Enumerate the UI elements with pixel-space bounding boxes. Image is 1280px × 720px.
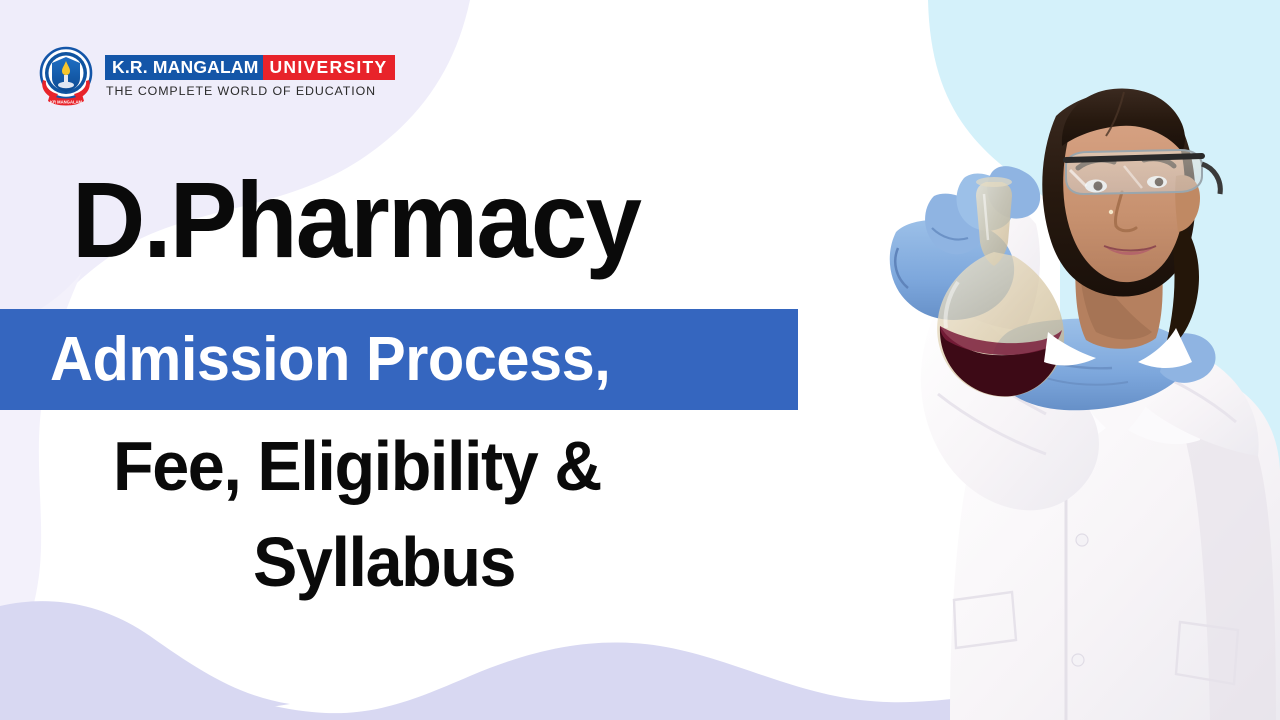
university-logo[interactable]: KR MANGALAM K.R. MANGALAM UNIVERSITY THE… bbox=[36, 44, 395, 108]
goggles-top-bar bbox=[1066, 156, 1202, 160]
goggles-temple bbox=[1202, 164, 1220, 194]
student-photo-illustration bbox=[880, 0, 1280, 720]
flask-mouth bbox=[976, 177, 1012, 187]
promo-banner: KR MANGALAM K.R. MANGALAM UNIVERSITY THE… bbox=[0, 0, 1280, 720]
university-crest-icon: KR MANGALAM bbox=[36, 44, 96, 108]
headline-line-1: D.Pharmacy bbox=[72, 166, 640, 274]
headline-line-2: Admission Process, bbox=[50, 327, 610, 393]
university-wordmark: K.R. MANGALAM UNIVERSITY THE COMPLETE WO… bbox=[105, 55, 395, 98]
university-tagline: THE COMPLETE WORLD OF EDUCATION bbox=[105, 84, 376, 98]
wordmark-secondary: UNIVERSITY bbox=[263, 55, 394, 80]
nose-stud bbox=[1109, 210, 1113, 214]
headline-line-4: Syllabus bbox=[253, 525, 515, 599]
student-photo bbox=[880, 0, 1280, 720]
safety-goggles bbox=[1066, 150, 1220, 194]
coat-button-2 bbox=[1072, 654, 1084, 666]
wordmark-primary: K.R. MANGALAM bbox=[105, 55, 263, 80]
headline-line-3: Fee, Eligibility & bbox=[113, 429, 601, 503]
white-bubble-2 bbox=[650, 42, 834, 198]
crest-ribbon-text: KR MANGALAM bbox=[50, 99, 83, 104]
headline-highlight-band: Admission Process, bbox=[0, 309, 798, 410]
coat-button-1 bbox=[1076, 534, 1088, 546]
